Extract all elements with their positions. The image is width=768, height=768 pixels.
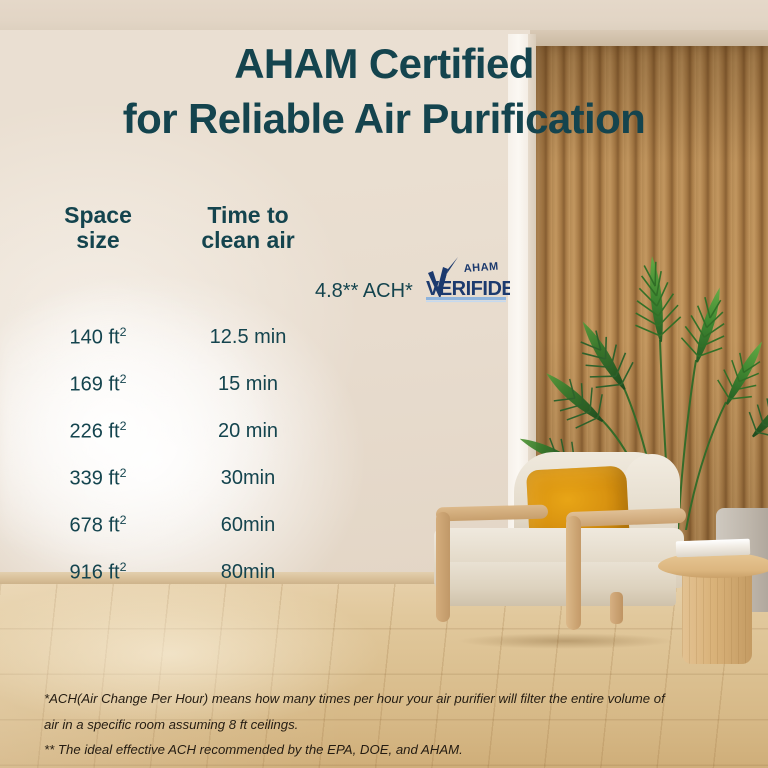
- column-header-space-size: Space size: [36, 203, 160, 253]
- table-header-row: Space size Time to clean air: [36, 203, 336, 253]
- cell-time-to-clean: 60min: [160, 514, 336, 537]
- logo-underline-bar: [426, 297, 506, 300]
- cell-time-to-clean: 80min: [160, 561, 336, 584]
- armchair-arm-left: [436, 505, 548, 522]
- armchair-skirt: [440, 562, 676, 606]
- table-row: 140 ft212.5 min: [36, 325, 336, 350]
- time-header-line-1: Time to: [160, 203, 336, 228]
- table-row: 339 ft230min: [36, 466, 336, 491]
- table-body: 140 ft212.5 min169 ft215 min226 ft220 mi…: [36, 253, 336, 593]
- ach-value: 4.8** ACH*: [315, 280, 413, 303]
- table-row: 916 ft280min: [36, 560, 336, 585]
- space-header-line-2: size: [36, 228, 160, 253]
- cell-time-to-clean: 12.5 min: [160, 326, 336, 349]
- page-title: AHAM Certified for Reliable Air Purifica…: [0, 36, 768, 147]
- armchair-leg-right: [566, 516, 581, 630]
- ceiling: [0, 0, 768, 34]
- side-table-base: [682, 568, 752, 664]
- logo-aham-text: AHAM: [463, 261, 499, 275]
- cell-time-to-clean: 30min: [160, 467, 336, 490]
- aham-verifide-logo-svg: AHAM VERIFIDE: [424, 255, 510, 303]
- footnote-line-1: *ACH(Air Change Per Hour) means how many…: [44, 686, 744, 712]
- cell-time-to-clean: 15 min: [160, 373, 336, 396]
- side-table: [658, 552, 768, 668]
- logo-verifide-text: VERIFIDE: [426, 278, 510, 300]
- cell-space-size: 226 ft2: [36, 419, 160, 444]
- table-row: 678 ft260min: [36, 513, 336, 538]
- space-time-table: Space size Time to clean air 140 ft212.5…: [36, 203, 336, 593]
- armchair-back-roll: [624, 454, 680, 538]
- column-header-time-to-clean-air: Time to clean air: [160, 203, 336, 253]
- footnote-line-2: air in a specific room assuming 8 ft cei…: [44, 712, 744, 738]
- cell-space-size: 140 ft2: [36, 325, 160, 350]
- cell-space-size: 916 ft2: [36, 560, 160, 585]
- headline-line-2: for Reliable Air Purification: [0, 91, 768, 146]
- cell-space-size: 678 ft2: [36, 513, 160, 538]
- logo-underline-bar-light: [426, 301, 506, 303]
- infographic-canvas: AHAM Certified for Reliable Air Purifica…: [0, 0, 768, 768]
- table-row: 169 ft215 min: [36, 372, 336, 397]
- cell-space-size: 169 ft2: [36, 372, 160, 397]
- time-header-line-2: clean air: [160, 228, 336, 253]
- ach-rating: 4.8** ACH*: [315, 280, 413, 303]
- cell-space-size: 339 ft2: [36, 466, 160, 491]
- table-row: 226 ft220 min: [36, 419, 336, 444]
- space-header-line-1: Space: [36, 203, 160, 228]
- aham-verifide-logo: AHAM VERIFIDE: [424, 255, 510, 303]
- footnote-line-3: ** The ideal effective ACH recommended b…: [44, 737, 744, 763]
- cell-time-to-clean: 20 min: [160, 420, 336, 443]
- headline-line-1: AHAM Certified: [234, 40, 534, 87]
- armchair-leg-left: [436, 512, 450, 622]
- armchair-leg-back: [610, 592, 623, 624]
- book-upper: [676, 539, 751, 558]
- footnotes: *ACH(Air Change Per Hour) means how many…: [44, 686, 744, 763]
